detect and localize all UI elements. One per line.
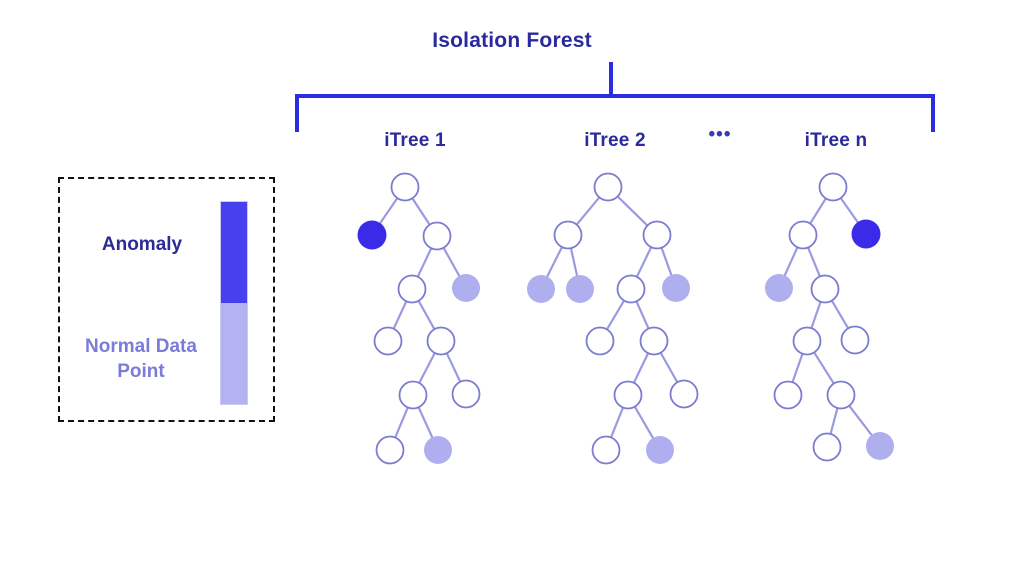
anomaly-node (852, 220, 881, 249)
tree-edge (660, 352, 678, 383)
tree-edge (814, 352, 835, 385)
tree-edge (419, 352, 435, 384)
internal-node (828, 382, 855, 409)
internal-node (377, 437, 404, 464)
tree-edge (417, 247, 431, 277)
tree-edge (393, 300, 407, 329)
tree-edge (443, 247, 460, 277)
legend-anomaly-label: Anomaly (72, 234, 212, 256)
tree-edge (418, 300, 435, 330)
tree-edge (830, 407, 838, 435)
ellipsis-icon: ••• (688, 124, 752, 146)
tree-edge (840, 197, 858, 223)
legend-colorbar-anomaly-segment (221, 202, 247, 303)
tree-edge (784, 246, 797, 276)
internal-node (618, 276, 645, 303)
internal-node (453, 381, 480, 408)
normal-data-point-node (527, 275, 555, 303)
internal-node (399, 276, 426, 303)
internal-node (375, 328, 402, 355)
tree-edge (849, 405, 873, 436)
tree-edge (617, 196, 648, 227)
diagram-canvas: Isolation Forest iTree 1 ••• iTree 2 iTr… (0, 0, 1024, 576)
tree-edge (395, 407, 408, 439)
internal-node (555, 222, 582, 249)
tree-edge (611, 407, 624, 439)
internal-node (593, 437, 620, 464)
internal-node (644, 222, 671, 249)
tree-edge (418, 406, 432, 438)
normal-data-point-node (866, 432, 894, 460)
internal-node (595, 174, 622, 201)
tree-edge (792, 353, 803, 383)
tree-label-2: iTree 2 (535, 130, 695, 152)
normal-data-point-node (662, 274, 690, 302)
normal-data-point-node (452, 274, 480, 302)
legend-colorbar-normal-segment (221, 303, 247, 404)
internal-node (615, 382, 642, 409)
legend-normal-label: Normal Data Point (62, 334, 220, 384)
internal-node (794, 328, 821, 355)
tree-label-1: iTree 1 (335, 130, 495, 152)
tree-edge (412, 197, 430, 225)
normal-data-point-node (646, 436, 674, 464)
internal-node (820, 174, 847, 201)
internal-node (790, 222, 817, 249)
internal-node (400, 382, 427, 409)
tree-label-n: iTree n (756, 130, 916, 152)
tree-edge (547, 246, 563, 277)
normal-data-point-node (424, 436, 452, 464)
tree-edge (634, 406, 653, 439)
tree-edge (808, 247, 821, 278)
tree-edge (636, 300, 649, 329)
internal-node (428, 328, 455, 355)
tree-edge (446, 352, 460, 382)
tree-edge (661, 247, 671, 276)
normal-data-point-node (765, 274, 793, 302)
internal-node (587, 328, 614, 355)
internal-node (671, 381, 698, 408)
legend-colorbar (220, 201, 248, 405)
tree-edge (633, 352, 648, 383)
normal-data-point-node (566, 275, 594, 303)
tree-edge (636, 246, 651, 277)
anomaly-node (358, 221, 387, 250)
internal-node (424, 223, 451, 250)
internal-node (775, 382, 802, 409)
internal-node (641, 328, 668, 355)
internal-node (812, 276, 839, 303)
tree-edge (810, 198, 827, 225)
forest-bracket (296, 62, 934, 132)
internal-node (392, 174, 419, 201)
tree-edge (576, 197, 600, 226)
internal-node (814, 434, 841, 461)
tree-edge (571, 247, 577, 276)
tree-edge (379, 197, 398, 224)
internal-node (842, 327, 869, 354)
tree-edge (831, 300, 848, 329)
tree-edge (606, 300, 624, 331)
tree-edge (811, 301, 821, 329)
